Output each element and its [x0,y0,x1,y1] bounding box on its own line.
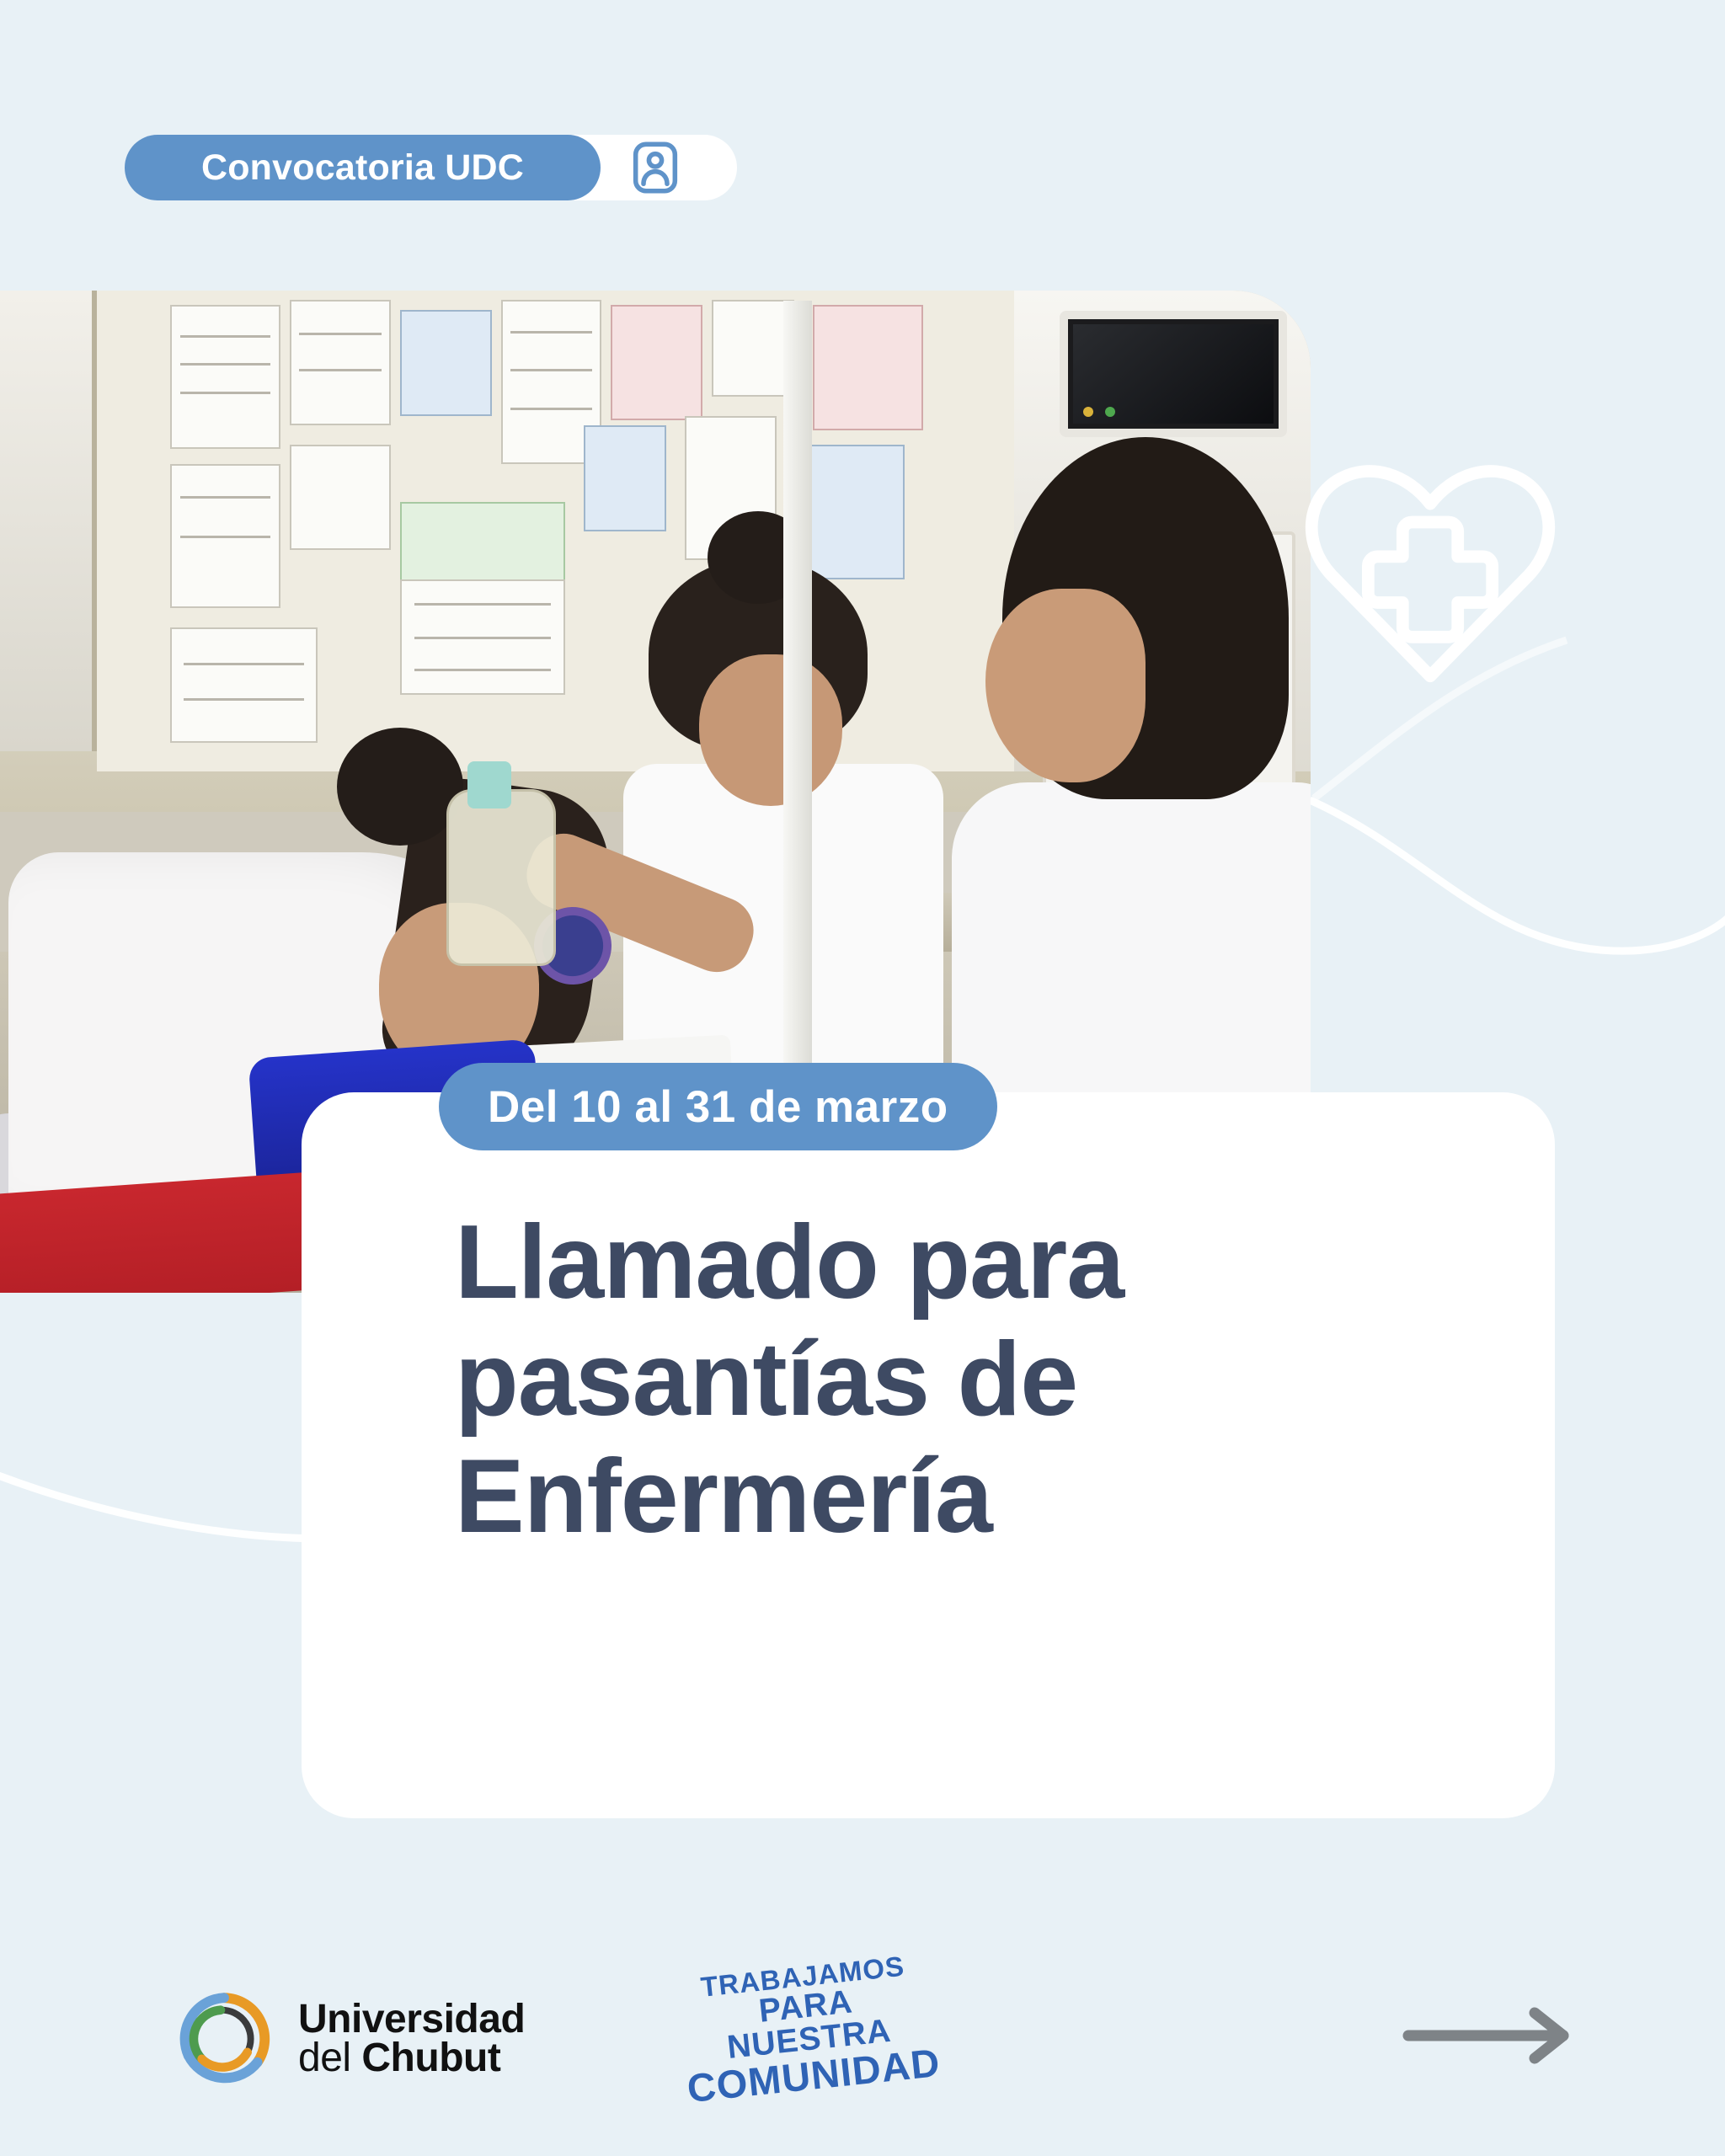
photo-saline-bottle [446,789,556,966]
poster-canvas: Convocatoria UDC [0,0,1725,2156]
date-badge: Del 10 al 31 de marzo [439,1063,997,1150]
udc-circle-logo [168,1983,280,2095]
convocatoria-badge[interactable]: Convocatoria UDC [125,135,737,200]
title-line-2: pasantías de [455,1321,1077,1438]
udc-line-2-bold: Chubut [361,2036,500,2080]
universidad-del-chubut-logo: Universidad del Chubut [168,1983,525,2095]
date-badge-label: Del 10 al 31 de marzo [488,1081,948,1133]
id-card-person-icon [601,135,710,200]
badge-pill: Convocatoria UDC [125,135,601,200]
photo-monitor [1060,311,1287,437]
community-slogan-logo: TRABAJAMOS PARA NUESTRA COMUNIDAD [676,1950,938,2085]
udc-wordmark: Universidad del Chubut [298,2000,525,2077]
arrow-right-icon[interactable] [1398,2006,1583,2065]
page-title: Llamado para pasantías de Enfermería [455,1204,1398,1556]
udc-line-2: del Chubut [298,2039,525,2078]
udc-line-1: Universidad [298,2000,525,2039]
photo-cabinet [0,291,97,751]
heart-with-medical-cross-icon [1287,446,1573,699]
title-line-3: Enfermería [455,1438,992,1555]
badge-label: Convocatoria UDC [201,147,524,189]
udc-line-2-light: del [298,2036,361,2080]
title-line-1: Llamado para [455,1204,1124,1321]
